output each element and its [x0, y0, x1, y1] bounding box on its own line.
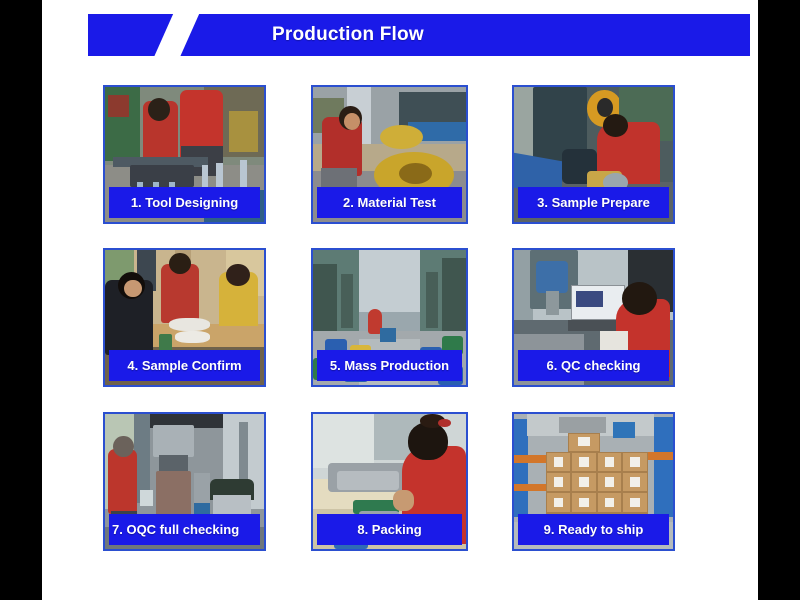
- flow-step-6[interactable]: 6. QC checking: [512, 248, 675, 387]
- flow-step-8[interactable]: 8. Packing: [311, 412, 468, 551]
- letterbox-left: [0, 0, 42, 600]
- slide-canvas: Production Flow: [42, 0, 758, 600]
- step-label-3: 3. Sample Prepare: [518, 187, 669, 218]
- flow-row-2: 4. Sample Confirm: [103, 248, 723, 387]
- flow-step-3[interactable]: 3. Sample Prepare: [512, 85, 675, 224]
- step-label-2: 2. Material Test: [317, 187, 462, 218]
- step-label-4: 4. Sample Confirm: [109, 350, 260, 381]
- flow-row-3: 7. OQC full checking: [103, 412, 723, 551]
- flow-step-4[interactable]: 4. Sample Confirm: [103, 248, 266, 387]
- step-label-9: 9. Ready to ship: [518, 514, 669, 545]
- flow-row-1: 1. Tool Designing: [103, 85, 723, 224]
- step-label-8: 8. Packing: [317, 514, 462, 545]
- letterbox-right: [758, 0, 800, 600]
- page-title: Production Flow: [88, 14, 750, 56]
- flow-step-9[interactable]: 9. Ready to ship: [512, 412, 675, 551]
- header-bar: Production Flow: [88, 14, 750, 56]
- flow-step-2[interactable]: 2. Material Test: [311, 85, 468, 224]
- flow-step-7[interactable]: 7. OQC full checking: [103, 412, 266, 551]
- flow-step-1[interactable]: 1. Tool Designing: [103, 85, 266, 224]
- step-label-7: 7. OQC full checking: [109, 514, 260, 545]
- production-flow-grid: 1. Tool Designing: [103, 85, 723, 575]
- step-label-5: 5. Mass Production: [317, 350, 462, 381]
- flow-step-5[interactable]: 5. Mass Production: [311, 248, 468, 387]
- step-label-1: 1. Tool Designing: [109, 187, 260, 218]
- step-label-6: 6. QC checking: [518, 350, 669, 381]
